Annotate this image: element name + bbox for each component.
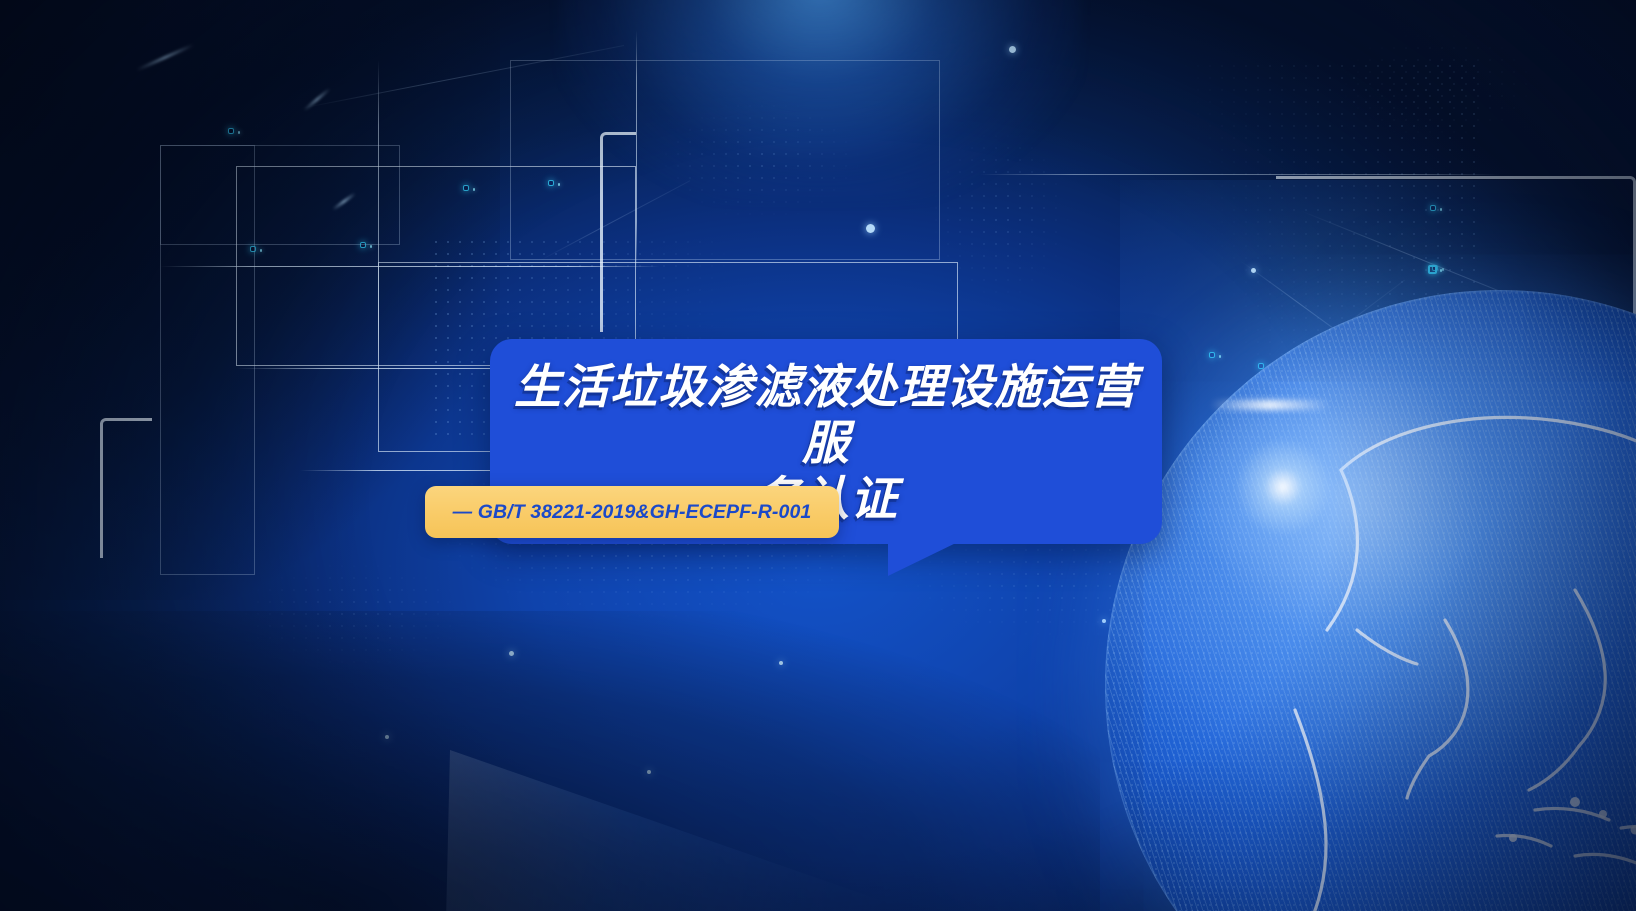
subtitle-badge-text: — GB/T 38221-2019&GH-ECEPF-R-001 [425,486,839,538]
slide-canvas: 生活垃圾渗滤液处理设施运营服 务认证 — GB/T 38221-2019&GH-… [0,0,1636,911]
title-bubble-tail [888,540,962,576]
